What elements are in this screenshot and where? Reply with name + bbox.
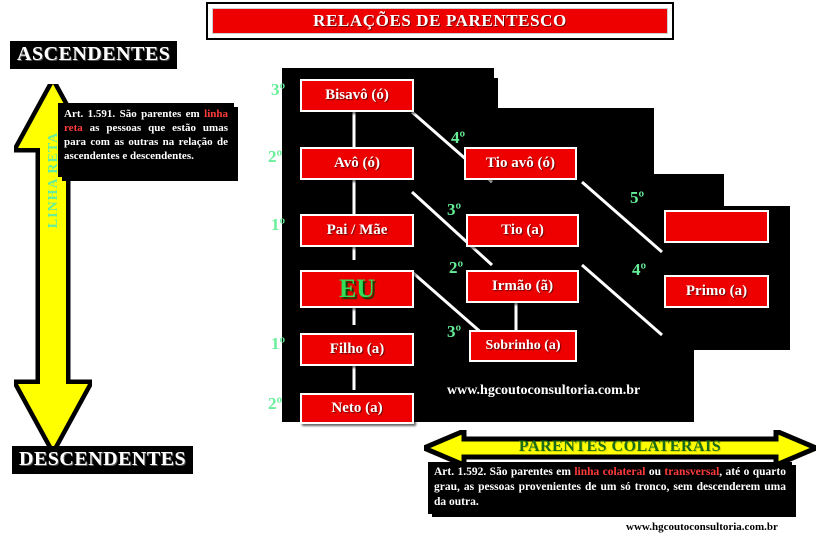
degree-sobrinho: 3º [447,322,461,342]
descendentes-banner: DESCENDENTES [12,446,193,474]
art-1591-lead: Art. 1.591. São parentes em [64,108,204,120]
art-1592-highlight-1: linha colateral [574,466,645,478]
parentes-colaterais-label: PARENTES COLATERAIS [424,438,816,456]
art-1592-text: Art. 1.592. São parentes em linha colate… [428,462,792,514]
degree-primo: 4º [632,260,646,280]
degree-neto: 2º [268,394,282,414]
art-1591-text: Art. 1.591. São parentes em linha reta a… [58,103,234,177]
degree-tio-avo: 4º [451,128,465,148]
art-1592-mid: ou [645,466,664,478]
ascendentes-banner: ASCENDENTES [10,41,177,69]
degree-filho: 1º [271,334,285,354]
site-url-bottom: www.hgcoutoconsultoria.com.br [626,521,778,533]
degree-avo: 2º [268,147,282,167]
art-1592-highlight-2: transversal [664,466,719,478]
node-avo[interactable]: Avô (ó) [300,147,414,180]
degree-irmao: 2º [449,258,463,278]
page-title-text: RELAÇÕES DE PARENTESCO [313,11,567,31]
node-sobrinho[interactable]: Sobrinho (a) [469,330,577,362]
art-1592-lead: Art. 1.592. São parentes em [434,466,574,478]
node-irmao[interactable]: Irmão (ã) [466,270,579,303]
site-url-inner: www.hgcoutoconsultoria.com.br [447,383,640,399]
degree-tio: 3º [447,200,461,220]
node-pai-mae[interactable]: Pai / Mãe [300,214,414,247]
degree-pai-mae: 1º [271,215,285,235]
node-empty-5grau[interactable] [664,210,769,243]
node-tio[interactable]: Tio (a) [466,214,579,247]
node-eu[interactable]: EU [300,270,414,308]
degree-bisavo: 3º [271,80,285,100]
node-primo[interactable]: Primo (a) [664,275,769,308]
node-filho[interactable]: Filho (a) [300,333,414,366]
degree-tio-bisavo: 5º [630,188,644,208]
art-1591-rest: as pessoas que estão umas para com as ou… [64,122,228,162]
page-title: RELAÇÕES DE PARENTESCO [212,8,668,34]
node-neto[interactable]: Neto (a) [300,393,414,424]
node-tio-avo[interactable]: Tio avô (ó) [464,147,577,180]
node-bisavo[interactable]: Bisavô (ó) [300,79,414,112]
